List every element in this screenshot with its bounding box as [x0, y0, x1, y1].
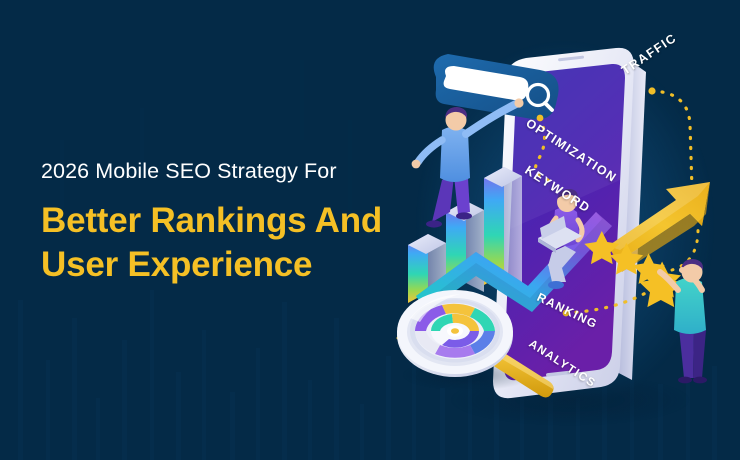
seo-illustration [380, 0, 740, 460]
seo-banner: 2026 Mobile SEO Strategy For Better Rank… [0, 0, 740, 460]
headline-line-2: User Experience [41, 243, 431, 287]
page-title: Better Rankings And User Experience [41, 199, 431, 288]
headline-line-1: Better Rankings And [41, 201, 382, 240]
headline-block: 2026 Mobile SEO Strategy For Better Rank… [41, 158, 431, 288]
eyebrow-text: 2026 Mobile SEO Strategy For [41, 158, 431, 185]
